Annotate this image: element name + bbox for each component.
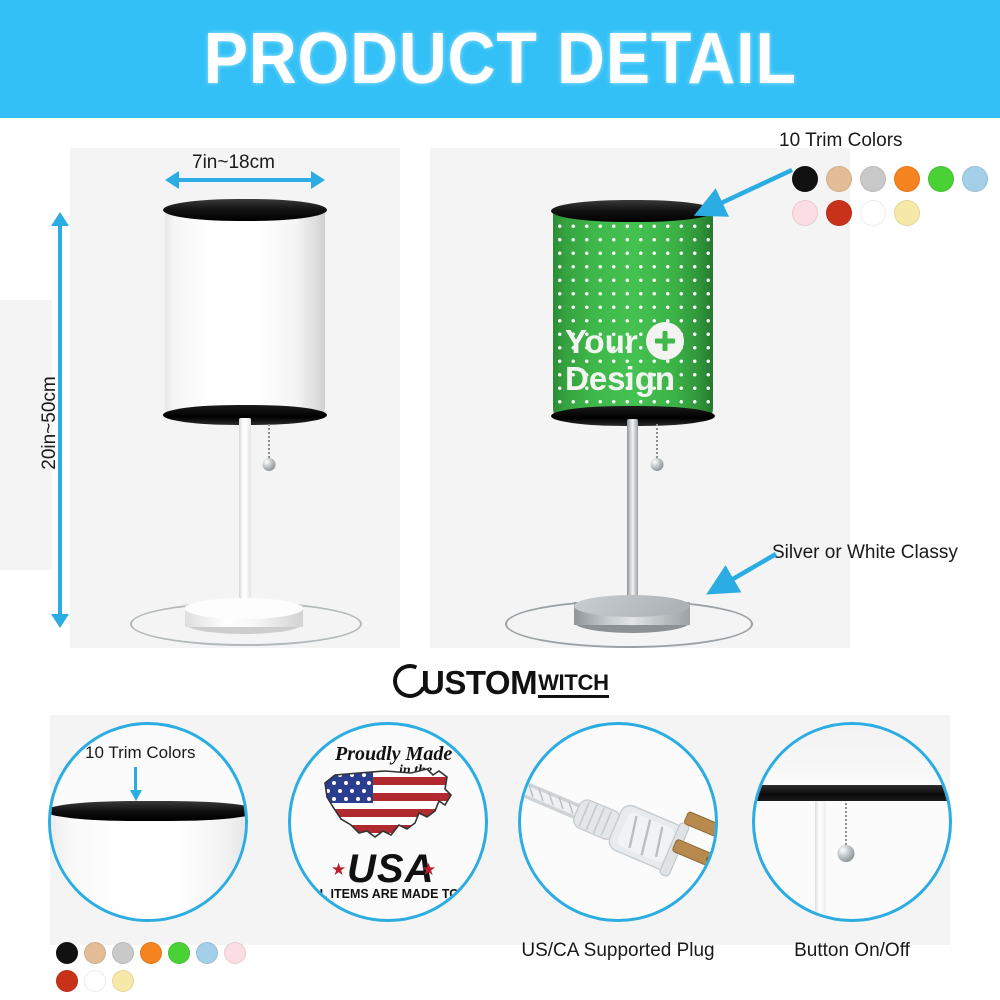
trim-color-swatch-light-blue[interactable] xyxy=(196,942,218,964)
feature-circle-made-in-usa: Proudly Made in the xyxy=(288,722,488,922)
trim-color-swatch-pink[interactable] xyxy=(792,200,818,226)
height-dimension-label: 20in~50cm xyxy=(39,353,61,493)
feature-caption-plug: US/CA Supported Plug xyxy=(498,940,738,962)
trim-colors-callout-label: 10 Trim Colors xyxy=(779,130,903,152)
shade-crop-upper xyxy=(755,725,952,791)
trim-color-swatch-yellow[interactable] xyxy=(112,970,134,992)
trim-color-swatch-green[interactable] xyxy=(928,166,954,192)
trim-color-swatch-gray[interactable] xyxy=(112,942,134,964)
shade-crop-surface xyxy=(49,809,248,922)
usa-map-flag-icon xyxy=(315,761,470,853)
feature-circle-plug xyxy=(518,722,718,922)
trim-color-swatch-tan[interactable] xyxy=(826,166,852,192)
usa-subline: ALL ITEMS ARE MADE TO ORDER! xyxy=(303,887,488,901)
trim-color-swatch-pink[interactable] xyxy=(224,942,246,964)
product-detail-page: PRODUCT DETAIL xyxy=(0,0,1000,1000)
trim-colors-arrow xyxy=(688,166,798,224)
trim-color-swatch-tan[interactable] xyxy=(84,942,106,964)
page-header-banner: PRODUCT DETAIL xyxy=(0,0,1000,118)
feature-circle-trim-colors: 10 Trim Colors xyxy=(48,722,248,922)
trim-color-swatches-top[interactable] xyxy=(792,166,1000,226)
trim-band xyxy=(48,801,248,821)
feature-trim-inner-label: 10 Trim Colors xyxy=(85,743,196,763)
trim-color-swatch-red[interactable] xyxy=(56,970,78,992)
base-finish-callout-label: Silver or White Classy xyxy=(772,542,958,564)
trim-band xyxy=(752,785,952,801)
base-finish-arrow xyxy=(700,548,782,604)
page-title: PRODUCT DETAIL xyxy=(203,23,796,95)
width-dimension-label: 7in~18cm xyxy=(192,152,275,174)
star-icon-right: ★ xyxy=(421,860,436,880)
trim-color-swatch-orange[interactable] xyxy=(894,166,920,192)
feature-caption-switch: Button On/Off xyxy=(732,940,972,962)
trim-color-swatch-yellow[interactable] xyxy=(894,200,920,226)
trim-color-swatch-red[interactable] xyxy=(826,200,852,226)
usa-badge: Proudly Made in the xyxy=(291,725,485,919)
lamp-pole-crop xyxy=(815,801,826,922)
trim-pointer-arrow xyxy=(134,767,137,791)
trim-color-swatch-black[interactable] xyxy=(56,942,78,964)
trim-color-swatches-bottom[interactable] xyxy=(56,942,261,992)
logo-name-sub: WITCH xyxy=(538,672,609,698)
star-icon-left: ★ xyxy=(331,860,346,880)
trim-color-swatch-orange[interactable] xyxy=(140,942,162,964)
trim-color-swatch-green[interactable] xyxy=(168,942,190,964)
trim-color-swatch-white[interactable] xyxy=(860,200,886,226)
trim-color-swatch-gray[interactable] xyxy=(860,166,886,192)
trim-color-swatch-black[interactable] xyxy=(792,166,818,192)
power-plug-icon xyxy=(518,759,718,889)
pull-chain xyxy=(839,803,853,867)
feature-circle-switch xyxy=(752,722,952,922)
width-dimension-arrow xyxy=(178,178,312,182)
trim-color-swatch-white[interactable] xyxy=(84,970,106,992)
brand-logo: USTOM WITCH xyxy=(393,664,609,698)
trim-color-swatch-light-blue[interactable] xyxy=(962,166,988,192)
bg-patch xyxy=(70,148,400,648)
logo-name-main: USTOM xyxy=(421,668,537,698)
